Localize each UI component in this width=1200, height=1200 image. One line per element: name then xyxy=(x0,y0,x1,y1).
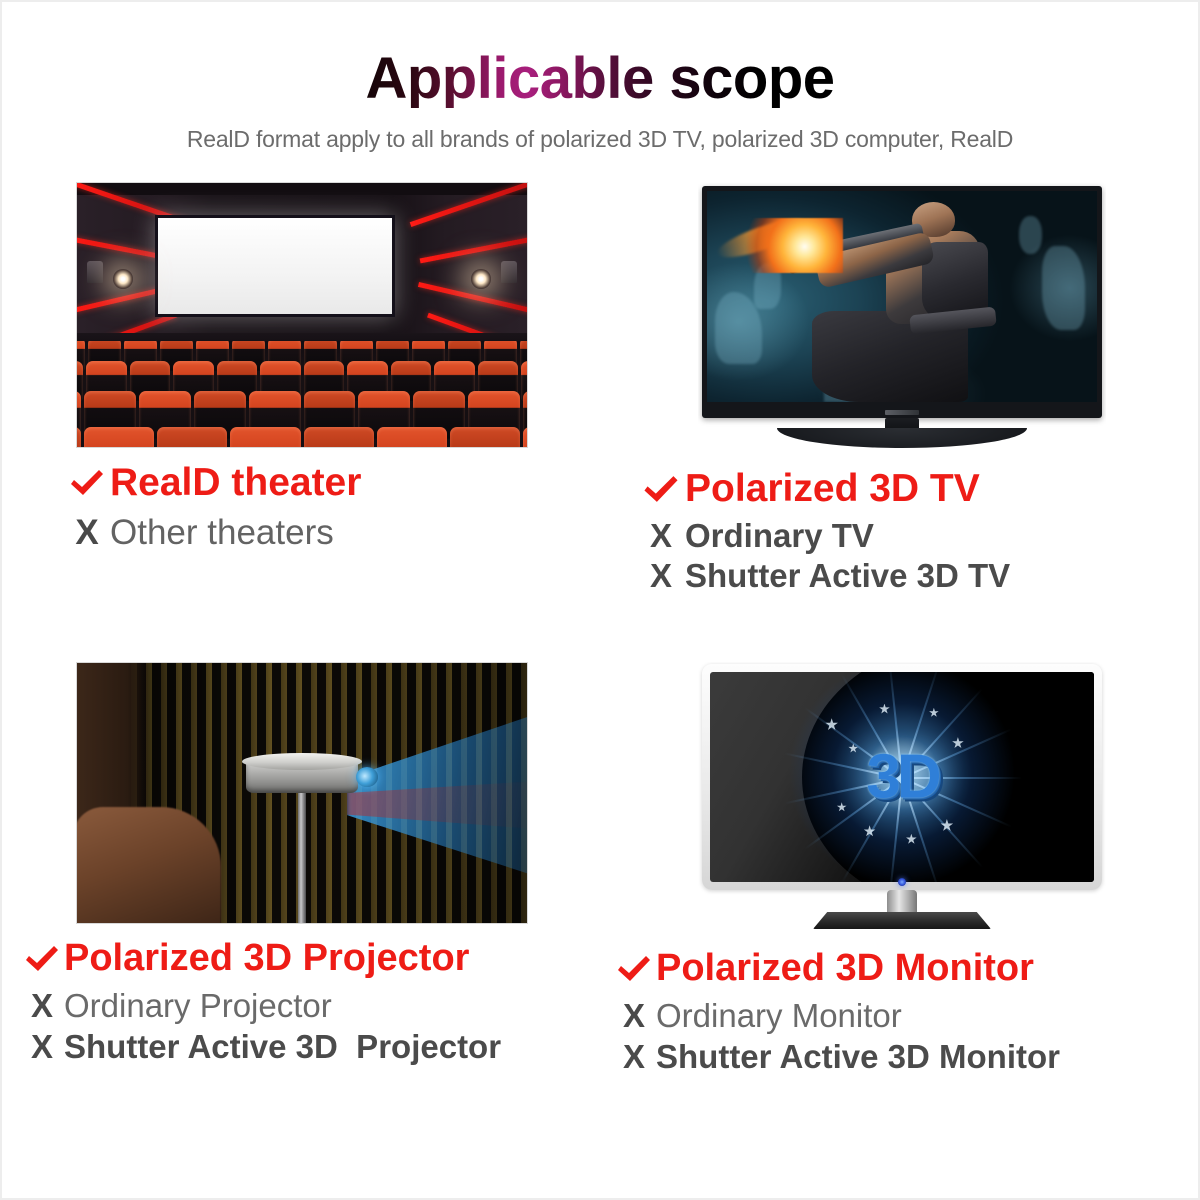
cross-icon: X xyxy=(64,514,110,552)
cross-icon: X xyxy=(612,998,656,1034)
cross-icon: X xyxy=(20,988,64,1024)
unsupported-label: Shutter Active 3D Monitor xyxy=(656,1039,1060,1075)
unsupported-label: Ordinary TV xyxy=(685,518,874,554)
unsupported-label: Other theaters xyxy=(110,514,334,552)
seat-row xyxy=(77,427,527,447)
photo-container: 3D xyxy=(602,662,1200,934)
unsupported-row: X Other theaters xyxy=(64,514,602,552)
compatibility-grid: RealD theater X Other theaters xyxy=(2,182,1200,1142)
page-subtitle: RealD format apply to all brands of pola… xyxy=(2,126,1198,153)
photo-container xyxy=(2,182,602,448)
tv-stand-base xyxy=(777,428,1027,448)
monitor-3d-logo: 3D xyxy=(866,742,937,813)
projector-stand-pole xyxy=(298,793,306,924)
supported-row: Polarized 3D Monitor xyxy=(612,948,1200,989)
photo-container xyxy=(2,662,602,924)
supported-label: Polarized 3D Projector xyxy=(64,938,469,979)
caption-list: RealD theater X Other theaters xyxy=(2,462,602,552)
check-icon xyxy=(612,954,656,984)
photo-container xyxy=(602,182,1200,454)
quadrant-polarized-3d-projector: Polarized 3D Projector X Ordinary Projec… xyxy=(2,662,602,1142)
unsupported-label: Shutter Active 3D Projector xyxy=(64,1029,501,1065)
supported-label: RealD theater xyxy=(110,462,361,504)
theater-seating xyxy=(77,341,527,447)
cross-icon: X xyxy=(637,558,685,594)
header: Applicable scope RealD format apply to a… xyxy=(2,2,1198,153)
supported-label: Polarized 3D Monitor xyxy=(656,948,1034,989)
supported-row: Polarized 3D TV xyxy=(637,468,1200,510)
unsupported-row: X Shutter Active 3D TV xyxy=(637,558,1200,594)
monitor-bezel: 3D xyxy=(702,664,1102,890)
tv-brand-logo xyxy=(885,410,919,415)
supported-row: RealD theater xyxy=(64,462,602,504)
check-icon xyxy=(64,468,110,498)
quadrant-reald-theater: RealD theater X Other theaters xyxy=(2,182,602,662)
projection-screen xyxy=(155,215,395,317)
unsupported-row: X Shutter Active 3D Projector xyxy=(20,1029,602,1065)
polarized-3d-monitor-photo: 3D xyxy=(692,662,1112,934)
unsupported-row: X Ordinary Monitor xyxy=(612,998,1200,1034)
page-title: Applicable scope xyxy=(365,50,834,108)
unsupported-row: X Ordinary TV xyxy=(637,518,1200,554)
tv-chassis xyxy=(702,186,1102,418)
sofa xyxy=(76,807,221,924)
unsupported-label: Shutter Active 3D TV xyxy=(685,558,1010,594)
tv-screen xyxy=(707,191,1097,402)
quadrant-polarized-3d-tv: Polarized 3D TV X Ordinary TV X Shutter … xyxy=(602,182,1200,662)
unsupported-label: Ordinary Monitor xyxy=(656,998,902,1034)
unsupported-label: Ordinary Projector xyxy=(64,988,332,1024)
quadrant-polarized-3d-monitor: 3D Polarized 3D Monitor xyxy=(602,662,1200,1142)
wall-lamp-light xyxy=(471,269,491,289)
cross-icon: X xyxy=(637,518,685,554)
wall-sconce xyxy=(501,261,517,283)
unsupported-row: X Ordinary Projector xyxy=(20,988,602,1024)
polarized-3d-projector-photo xyxy=(76,662,528,924)
theater-ceiling xyxy=(77,183,527,195)
polarized-3d-tv-photo xyxy=(698,182,1106,454)
projector-lens xyxy=(356,767,378,787)
caption-list: Polarized 3D TV X Ordinary TV X Shutter … xyxy=(602,468,1200,593)
muzzle-flash xyxy=(742,218,843,273)
applicable-scope-infographic: Applicable scope RealD format apply to a… xyxy=(0,0,1200,1200)
cross-icon: X xyxy=(612,1039,656,1075)
projector-top-plate xyxy=(242,753,362,770)
cross-icon: X xyxy=(20,1029,64,1065)
check-icon xyxy=(20,944,64,974)
check-icon xyxy=(637,474,685,505)
monitor-screen: 3D xyxy=(710,672,1094,882)
power-led xyxy=(898,878,906,886)
wall-sconce xyxy=(87,261,103,283)
caption-list: Polarized 3D Projector X Ordinary Projec… xyxy=(2,938,602,1064)
monitor-stand-base xyxy=(813,912,991,929)
wall-lamp-light xyxy=(113,269,133,289)
unsupported-row: X Shutter Active 3D Monitor xyxy=(612,1039,1200,1075)
supported-row: Polarized 3D Projector xyxy=(20,938,602,979)
reald-theater-photo xyxy=(76,182,528,448)
supported-label: Polarized 3D TV xyxy=(685,468,980,510)
caption-list: Polarized 3D Monitor X Ordinary Monitor … xyxy=(602,948,1200,1074)
